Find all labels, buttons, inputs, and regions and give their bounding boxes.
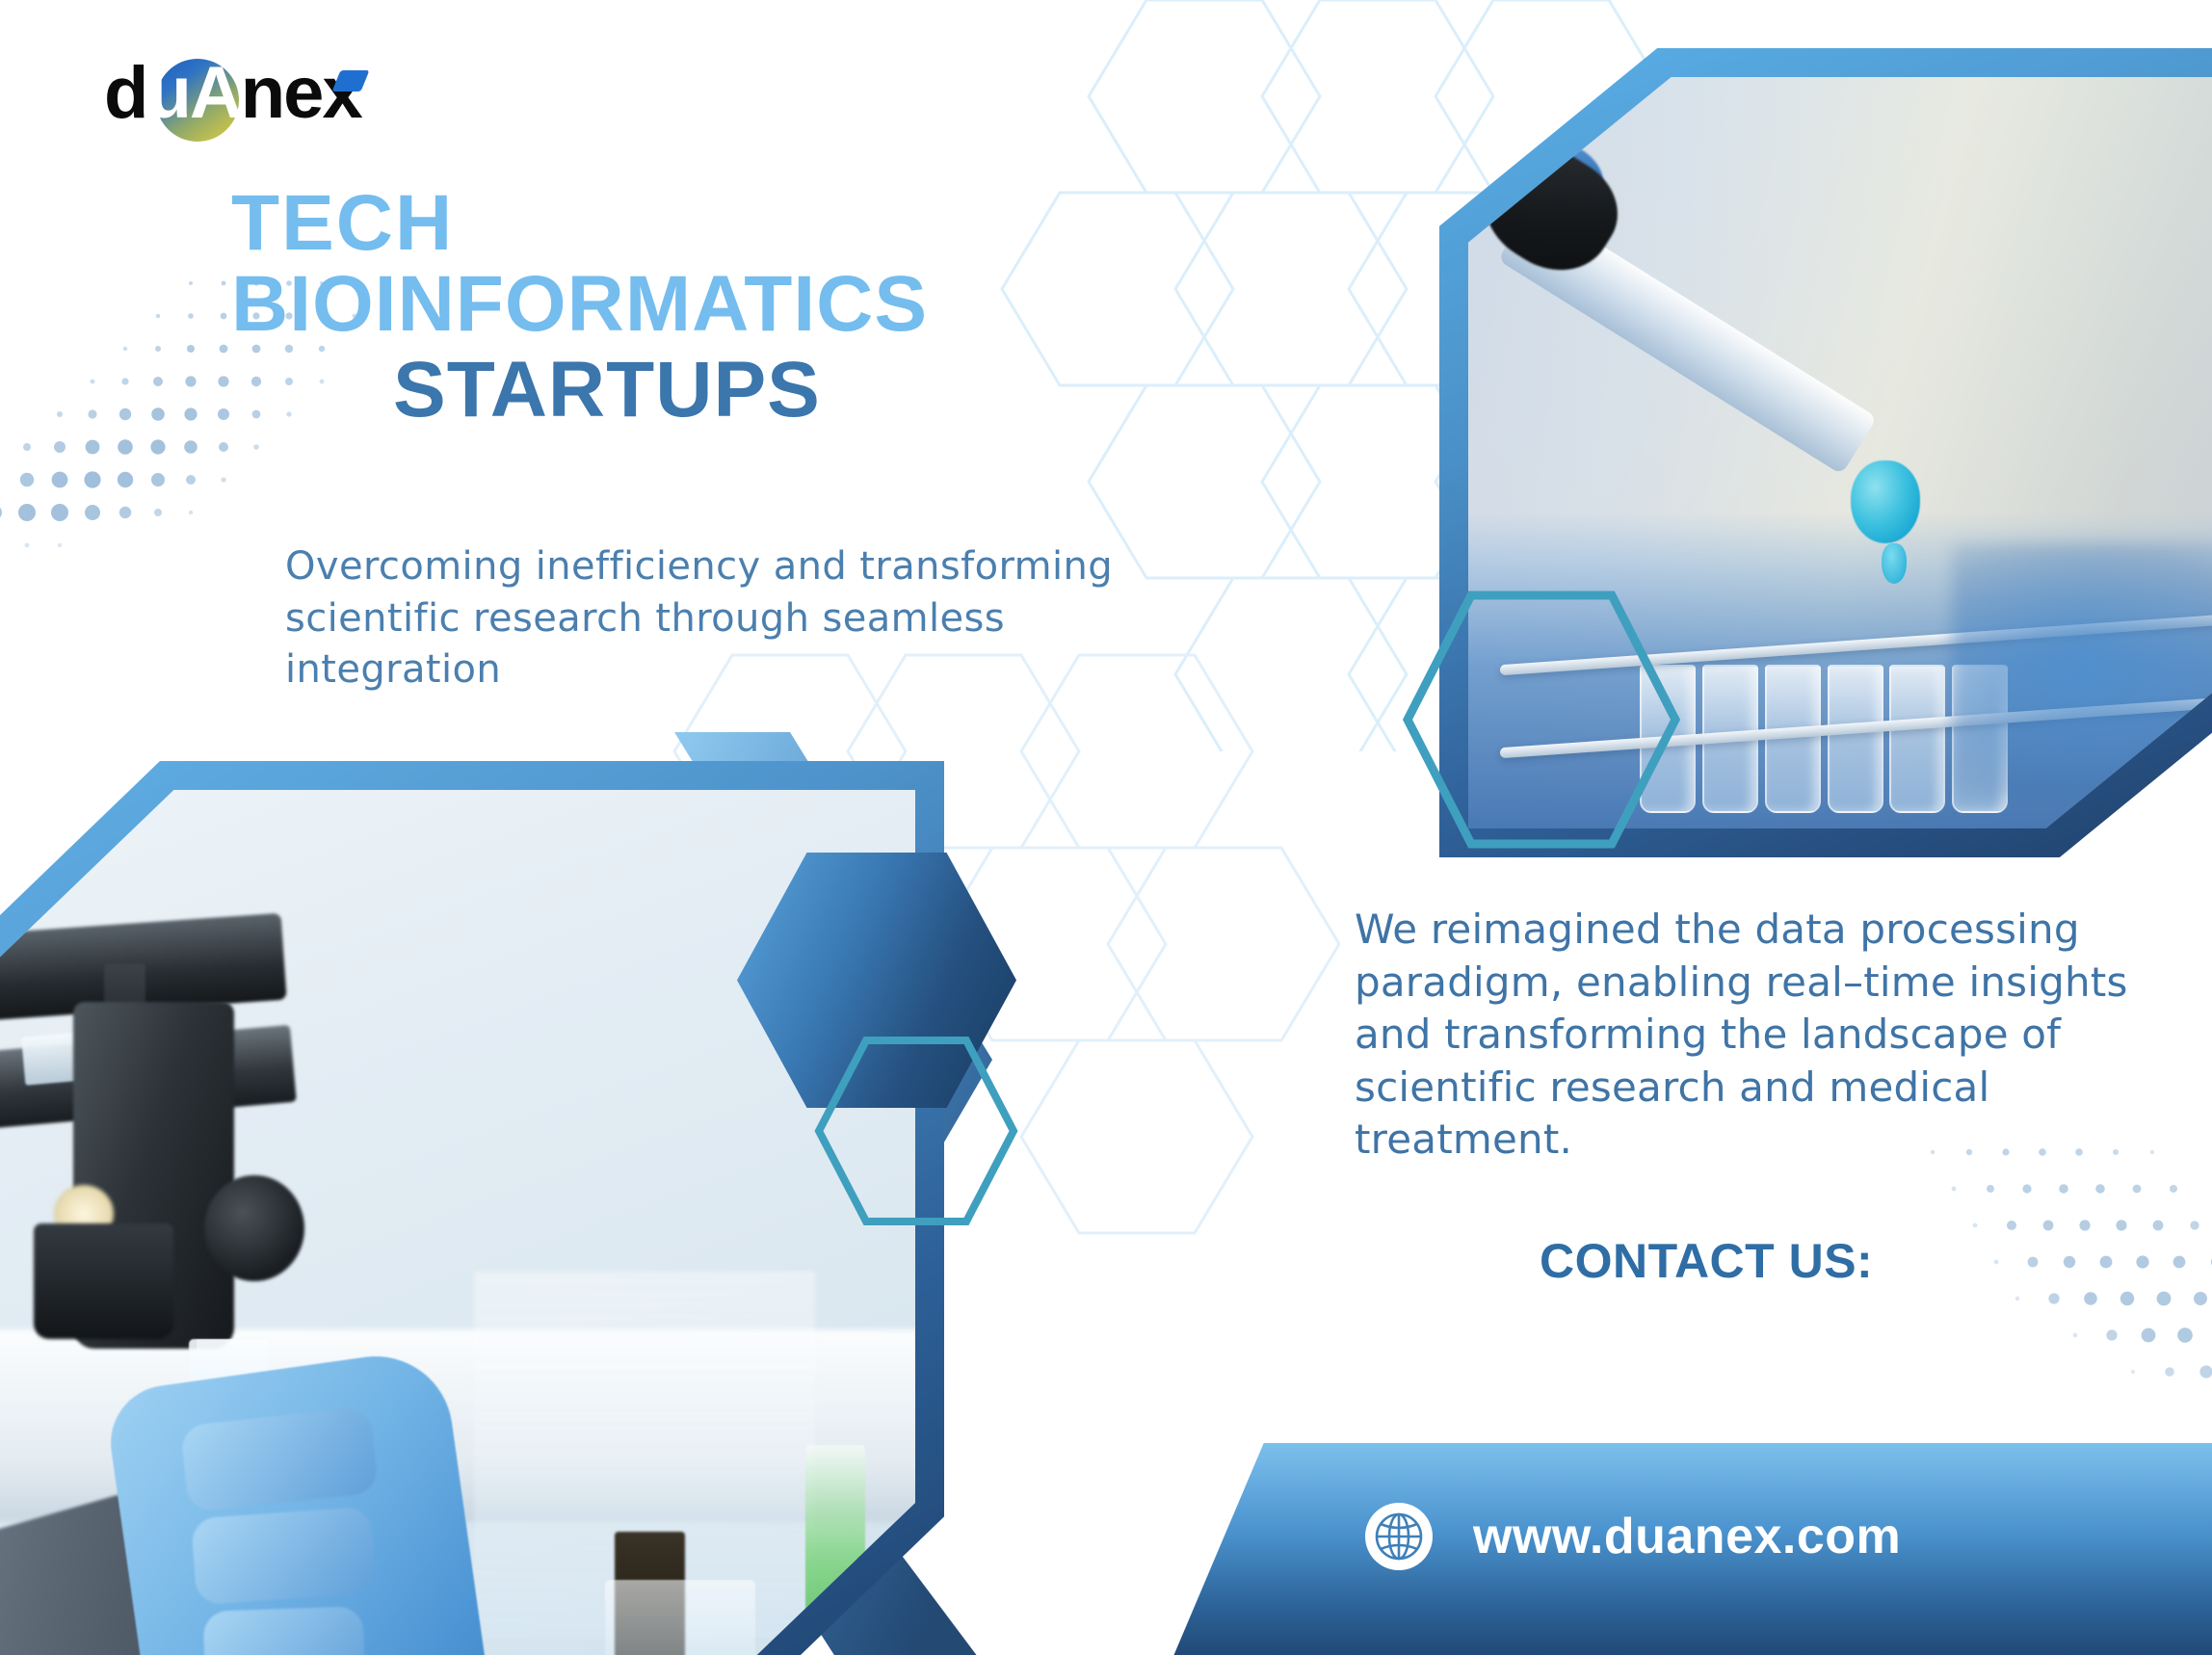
website-url[interactable]: www.duanex.com [1473, 1508, 1901, 1565]
globe-icon [1363, 1501, 1435, 1572]
logo-text-post: nex [241, 52, 361, 134]
teal-hexagon-outline-top [1402, 590, 1681, 850]
poster-canvas: duAnex TECH BIOINFORMATICS STARTUPS Over… [0, 0, 2212, 1655]
logo-text-badge: uA [146, 52, 240, 134]
contact-us-label: CONTACT US: [1540, 1233, 1873, 1289]
footer-content[interactable]: www.duanex.com [1363, 1501, 1901, 1572]
logo-text-pre: d [104, 52, 146, 134]
halftone-dots-mid-right [1917, 1137, 2212, 1387]
body-paragraph: We reimagined the data processing paradi… [1355, 904, 2183, 1167]
subtitle-text: Overcoming inefficiency and transforming… [285, 541, 1123, 696]
headline-line-2: BIOINFORMATICS [231, 264, 1330, 345]
page-title: TECH BIOINFORMATICS STARTUPS [231, 183, 1330, 431]
teal-hexagon-outline-center [814, 1036, 1018, 1226]
headline-line-3: STARTUPS [393, 350, 1330, 431]
brand-logo[interactable]: duAnex [104, 50, 361, 137]
logo-wordmark: duAnex [104, 57, 361, 130]
headline-line-1: TECH [231, 183, 1330, 264]
